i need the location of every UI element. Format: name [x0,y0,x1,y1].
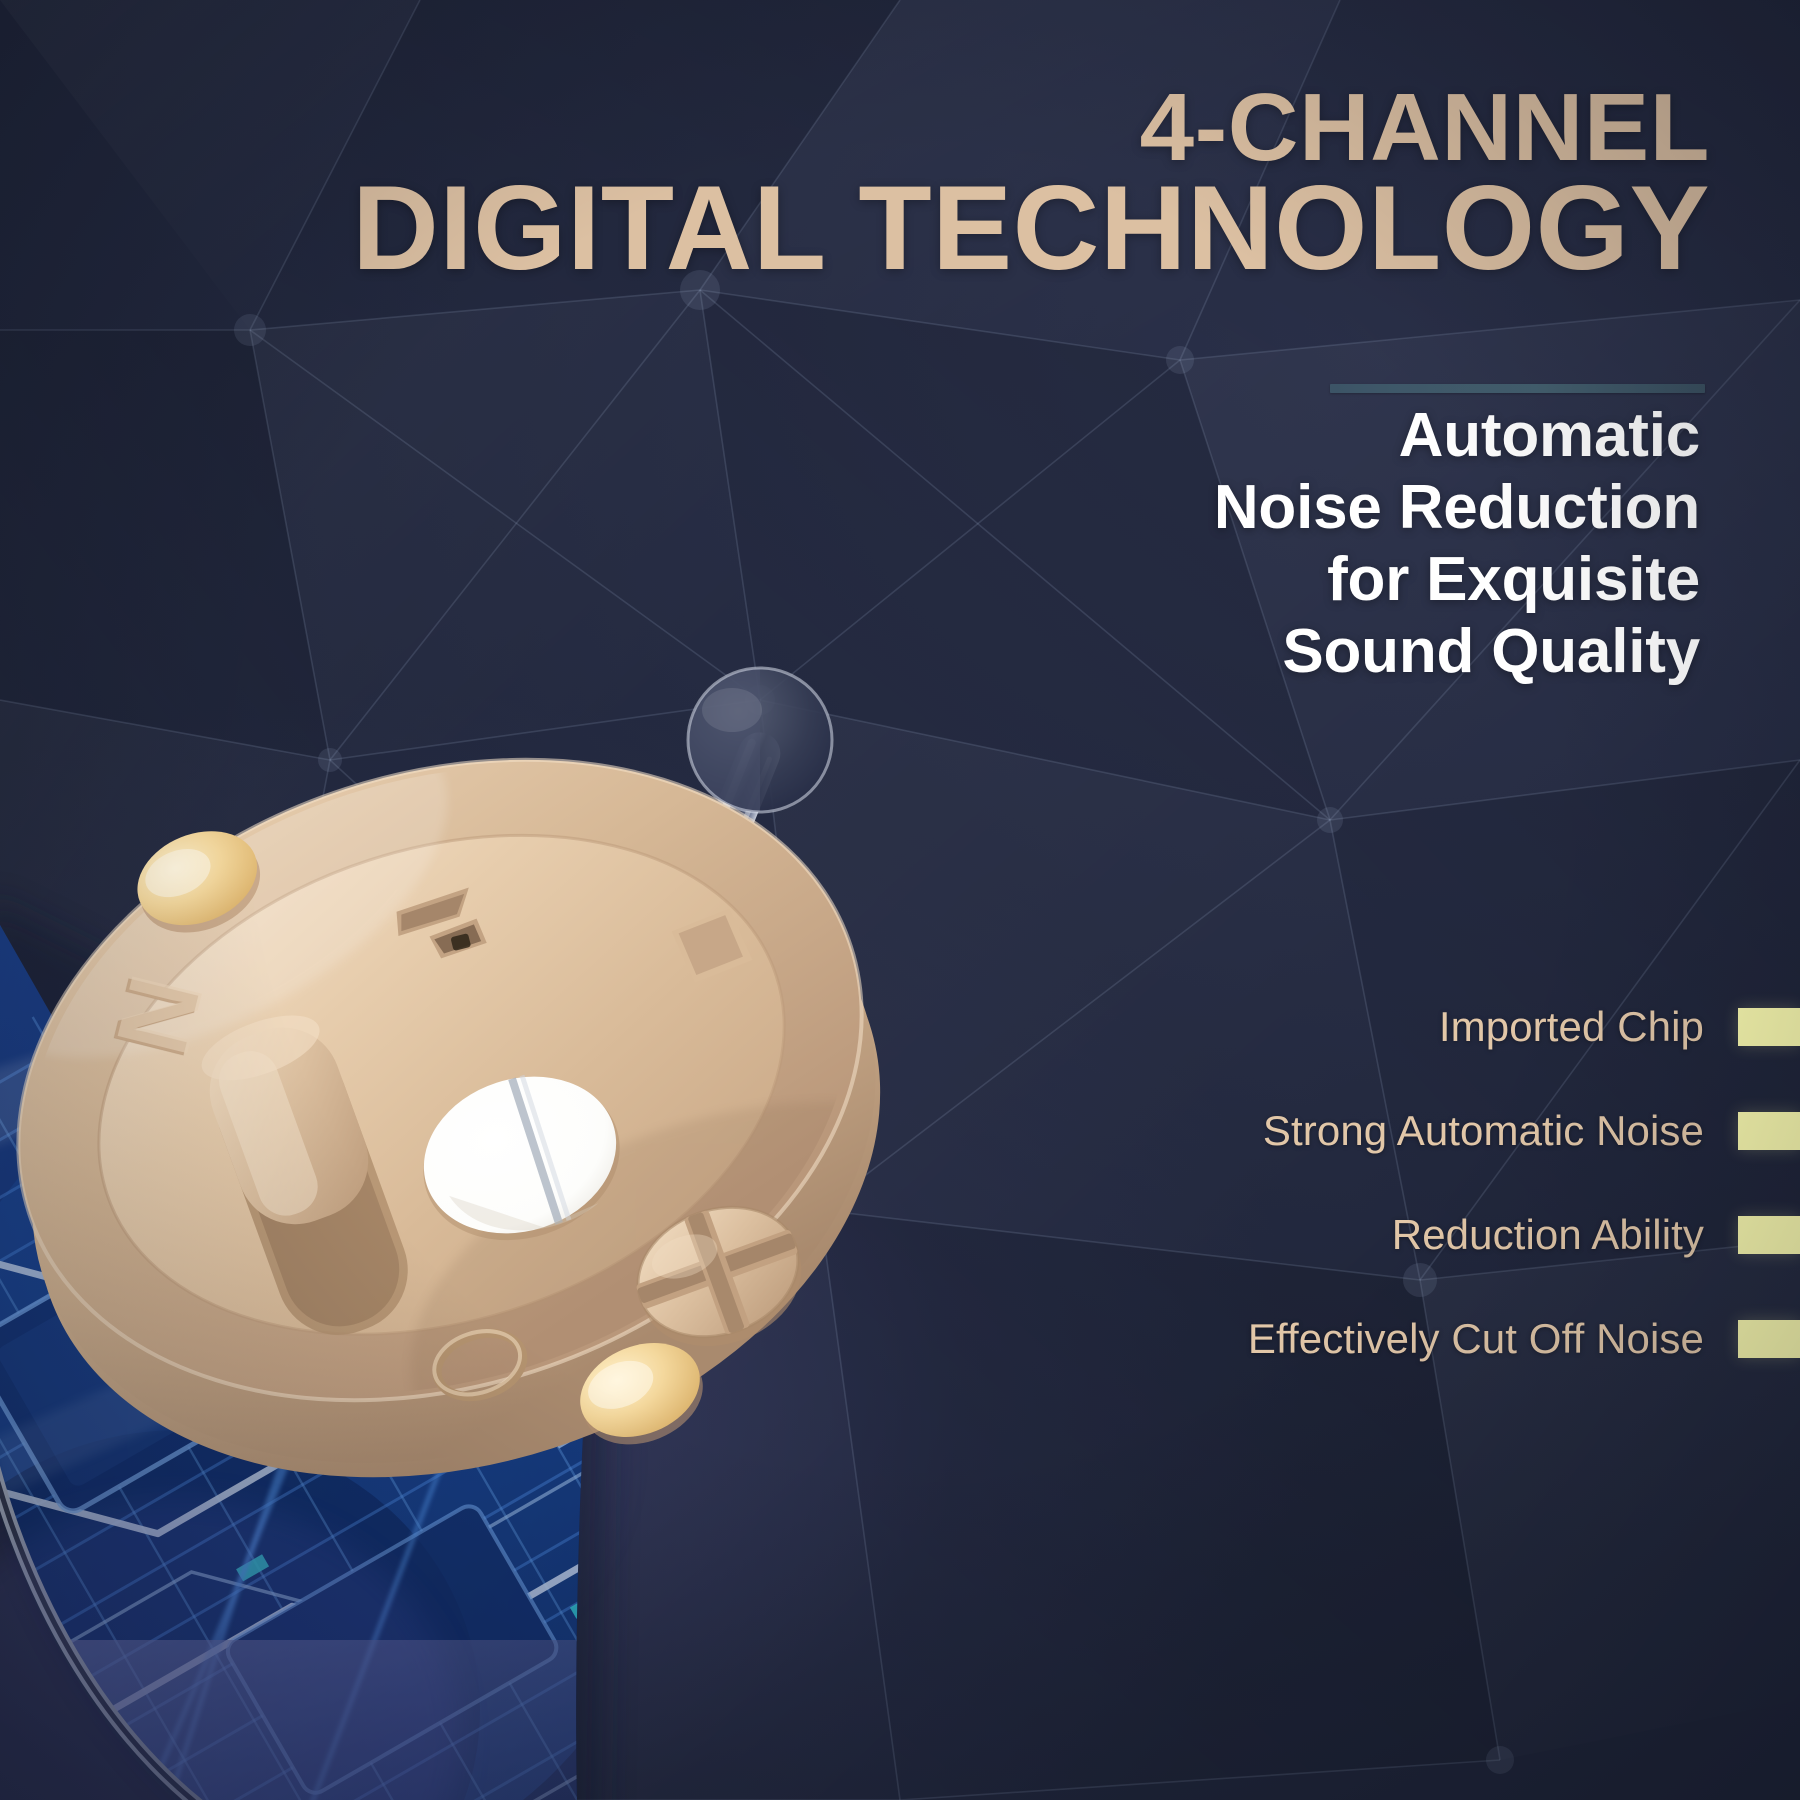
headline-line-1: 4-CHANNEL [68,86,1710,170]
subheadline-line-4: Sound Quality [920,616,1700,688]
feature-label: Imported Chip [1439,1003,1704,1051]
subheadline-line-2: Noise Reduction [920,472,1700,544]
feature-item-strong-automatic-noise: Strong Automatic Noise [980,1079,1800,1183]
feature-item-effectively-cut-off-noise: Effectively Cut Off Noise [980,1287,1800,1391]
feature-item-imported-chip: Imported Chip [980,975,1800,1079]
subheadline: Automatic Noise Reduction for Exquisite … [920,400,1700,688]
feature-marker-icon [1738,1008,1800,1046]
feature-label: Effectively Cut Off Noise [1248,1315,1704,1363]
feature-marker-icon [1738,1320,1800,1358]
feature-label: Reduction Ability [1392,1211,1704,1259]
title-divider-bar [1330,384,1705,393]
feature-marker-icon [1738,1216,1800,1254]
product-image-hearing-aid: N N [0,560,1060,1800]
product-banner: N N [0,0,1800,1800]
feature-label: Strong Automatic Noise [1263,1107,1704,1155]
page-title: 4-CHANNEL DIGITAL TECHNOLOGY [100,86,1710,282]
subheadline-line-1: Automatic [920,400,1700,472]
feature-marker-icon [1738,1112,1800,1150]
headline-line-2: DIGITAL TECHNOLOGY [100,176,1710,282]
feature-item-reduction-ability: Reduction Ability [980,1183,1800,1287]
feature-list: Imported Chip Strong Automatic Noise Red… [980,975,1800,1391]
subheadline-line-3: for Exquisite [920,544,1700,616]
